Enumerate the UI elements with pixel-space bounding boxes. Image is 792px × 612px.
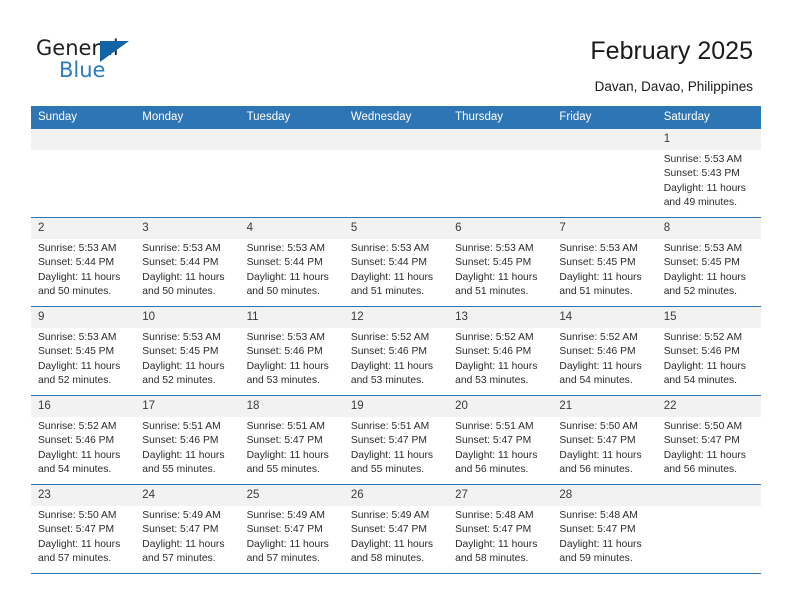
daylight-text: Daylight: 11 hours and 53 minutes. — [455, 360, 546, 389]
calendar-day-number — [31, 129, 135, 150]
calendar-day-cell[interactable]: 7Sunrise: 5:53 AMSunset: 5:45 PMDaylight… — [552, 218, 656, 307]
calendar-day-number: 20 — [448, 396, 552, 417]
calendar-day-number — [344, 129, 448, 150]
day-sun-details: Sunrise: 5:53 AMSunset: 5:43 PMDaylight:… — [657, 150, 761, 210]
sunrise-text: Sunrise: 5:48 AM — [559, 509, 650, 523]
page-header: General Blue February 2025 Davan, Davao,… — [0, 0, 792, 103]
calendar-day-number — [552, 129, 656, 150]
calendar-day-number: 18 — [240, 396, 344, 417]
sunrise-text: Sunrise: 5:49 AM — [351, 509, 442, 523]
weekday-header-sunday: Sunday — [31, 106, 135, 129]
logo-text-blue: Blue — [59, 58, 105, 82]
sunset-text: Sunset: 5:47 PM — [559, 434, 650, 448]
calendar-day-number: 1 — [657, 129, 761, 150]
day-sun-details: Sunrise: 5:53 AMSunset: 5:45 PMDaylight:… — [657, 239, 761, 299]
sunset-text: Sunset: 5:47 PM — [455, 434, 546, 448]
calendar-day-cell[interactable]: 24Sunrise: 5:49 AMSunset: 5:47 PMDayligh… — [135, 485, 239, 574]
daylight-text: Daylight: 11 hours and 53 minutes. — [351, 360, 442, 389]
calendar-body: 1Sunrise: 5:53 AMSunset: 5:43 PMDaylight… — [31, 129, 761, 574]
calendar-day-number: 27 — [448, 485, 552, 506]
day-sun-details: Sunrise: 5:50 AMSunset: 5:47 PMDaylight:… — [31, 506, 135, 566]
sunrise-text: Sunrise: 5:51 AM — [455, 420, 546, 434]
sunset-text: Sunset: 5:45 PM — [142, 345, 233, 359]
daylight-text: Daylight: 11 hours and 51 minutes. — [455, 271, 546, 300]
sunrise-text: Sunrise: 5:53 AM — [142, 331, 233, 345]
daylight-text: Daylight: 11 hours and 49 minutes. — [664, 182, 755, 211]
sunrise-text: Sunrise: 5:53 AM — [247, 242, 338, 256]
calendar-day-number: 3 — [135, 218, 239, 239]
sunset-text: Sunset: 5:45 PM — [559, 256, 650, 270]
daylight-text: Daylight: 11 hours and 56 minutes. — [559, 449, 650, 478]
calendar-day-number: 17 — [135, 396, 239, 417]
day-sun-details: Sunrise: 5:53 AMSunset: 5:44 PMDaylight:… — [240, 239, 344, 299]
calendar-day-cell[interactable]: 8Sunrise: 5:53 AMSunset: 5:45 PMDaylight… — [657, 218, 761, 307]
sunset-text: Sunset: 5:45 PM — [38, 345, 129, 359]
daylight-text: Daylight: 11 hours and 57 minutes. — [142, 538, 233, 567]
sunrise-text: Sunrise: 5:53 AM — [38, 331, 129, 345]
calendar-day-cell-empty[interactable] — [31, 129, 135, 218]
calendar-day-number: 26 — [344, 485, 448, 506]
calendar-day-number: 11 — [240, 307, 344, 328]
calendar-day-cell[interactable]: 15Sunrise: 5:52 AMSunset: 5:46 PMDayligh… — [657, 307, 761, 396]
sunrise-text: Sunrise: 5:53 AM — [38, 242, 129, 256]
calendar-day-cell-empty[interactable] — [344, 129, 448, 218]
day-sun-details: Sunrise: 5:48 AMSunset: 5:47 PMDaylight:… — [552, 506, 656, 566]
sunrise-text: Sunrise: 5:53 AM — [351, 242, 442, 256]
calendar-day-number: 8 — [657, 218, 761, 239]
sunset-text: Sunset: 5:46 PM — [142, 434, 233, 448]
weekday-header-tuesday: Tuesday — [240, 106, 344, 129]
sunrise-text: Sunrise: 5:53 AM — [142, 242, 233, 256]
sunset-text: Sunset: 5:46 PM — [664, 345, 755, 359]
daylight-text: Daylight: 11 hours and 54 minutes. — [664, 360, 755, 389]
day-sun-details: Sunrise: 5:53 AMSunset: 5:44 PMDaylight:… — [31, 239, 135, 299]
sunrise-text: Sunrise: 5:53 AM — [559, 242, 650, 256]
weekday-header-monday: Monday — [135, 106, 239, 129]
calendar-day-number: 9 — [31, 307, 135, 328]
daylight-text: Daylight: 11 hours and 56 minutes. — [455, 449, 546, 478]
calendar-week-row: 16Sunrise: 5:52 AMSunset: 5:46 PMDayligh… — [31, 396, 761, 485]
sunrise-text: Sunrise: 5:50 AM — [559, 420, 650, 434]
daylight-text: Daylight: 11 hours and 54 minutes. — [38, 449, 129, 478]
day-sun-details: Sunrise: 5:52 AMSunset: 5:46 PMDaylight:… — [344, 328, 448, 388]
daylight-text: Daylight: 11 hours and 59 minutes. — [559, 538, 650, 567]
day-sun-details: Sunrise: 5:52 AMSunset: 5:46 PMDaylight:… — [31, 417, 135, 477]
daylight-text: Daylight: 11 hours and 55 minutes. — [351, 449, 442, 478]
calendar-day-number: 25 — [240, 485, 344, 506]
sunrise-text: Sunrise: 5:52 AM — [664, 331, 755, 345]
day-sun-details: Sunrise: 5:53 AMSunset: 5:45 PMDaylight:… — [31, 328, 135, 388]
daylight-text: Daylight: 11 hours and 57 minutes. — [38, 538, 129, 567]
sunset-text: Sunset: 5:47 PM — [247, 523, 338, 537]
day-sun-details: Sunrise: 5:51 AMSunset: 5:47 PMDaylight:… — [448, 417, 552, 477]
day-sun-details: Sunrise: 5:50 AMSunset: 5:47 PMDaylight:… — [657, 417, 761, 477]
calendar-day-number: 7 — [552, 218, 656, 239]
daylight-text: Daylight: 11 hours and 57 minutes. — [247, 538, 338, 567]
calendar-day-number — [448, 129, 552, 150]
calendar-day-cell[interactable]: 10Sunrise: 5:53 AMSunset: 5:45 PMDayligh… — [135, 307, 239, 396]
daylight-text: Daylight: 11 hours and 50 minutes. — [38, 271, 129, 300]
sunset-text: Sunset: 5:44 PM — [351, 256, 442, 270]
calendar-day-number: 16 — [31, 396, 135, 417]
calendar-day-number: 19 — [344, 396, 448, 417]
sunrise-text: Sunrise: 5:50 AM — [38, 509, 129, 523]
calendar-day-number: 21 — [552, 396, 656, 417]
daylight-text: Daylight: 11 hours and 58 minutes. — [351, 538, 442, 567]
calendar-day-number: 6 — [448, 218, 552, 239]
daylight-text: Daylight: 11 hours and 56 minutes. — [664, 449, 755, 478]
calendar-day-number: 15 — [657, 307, 761, 328]
day-sun-details: Sunrise: 5:52 AMSunset: 5:46 PMDaylight:… — [657, 328, 761, 388]
calendar-day-number: 23 — [31, 485, 135, 506]
calendar-day-cell[interactable]: 3Sunrise: 5:53 AMSunset: 5:44 PMDaylight… — [135, 218, 239, 307]
sunset-text: Sunset: 5:47 PM — [142, 523, 233, 537]
calendar-day-cell[interactable]: 9Sunrise: 5:53 AMSunset: 5:45 PMDaylight… — [31, 307, 135, 396]
sunset-text: Sunset: 5:43 PM — [664, 167, 755, 181]
weekday-header-wednesday: Wednesday — [344, 106, 448, 129]
day-sun-details: Sunrise: 5:51 AMSunset: 5:47 PMDaylight:… — [344, 417, 448, 477]
day-sun-details: Sunrise: 5:50 AMSunset: 5:47 PMDaylight:… — [552, 417, 656, 477]
sunset-text: Sunset: 5:47 PM — [455, 523, 546, 537]
sunrise-text: Sunrise: 5:52 AM — [38, 420, 129, 434]
calendar-day-number: 5 — [344, 218, 448, 239]
sunrise-text: Sunrise: 5:52 AM — [559, 331, 650, 345]
calendar-week-row: 1Sunrise: 5:53 AMSunset: 5:43 PMDaylight… — [31, 129, 761, 218]
calendar-day-number: 4 — [240, 218, 344, 239]
calendar-day-cell[interactable]: 26Sunrise: 5:49 AMSunset: 5:47 PMDayligh… — [344, 485, 448, 574]
day-sun-details: Sunrise: 5:48 AMSunset: 5:47 PMDaylight:… — [448, 506, 552, 566]
calendar-day-number: 2 — [31, 218, 135, 239]
calendar-day-number: 10 — [135, 307, 239, 328]
day-sun-details: Sunrise: 5:49 AMSunset: 5:47 PMDaylight:… — [135, 506, 239, 566]
sunset-text: Sunset: 5:47 PM — [38, 523, 129, 537]
sunset-text: Sunset: 5:47 PM — [351, 523, 442, 537]
calendar-day-cell[interactable]: 23Sunrise: 5:50 AMSunset: 5:47 PMDayligh… — [31, 485, 135, 574]
calendar-day-cell[interactable]: 6Sunrise: 5:53 AMSunset: 5:45 PMDaylight… — [448, 218, 552, 307]
calendar-day-cell-empty[interactable] — [552, 129, 656, 218]
calendar-day-cell[interactable]: 13Sunrise: 5:52 AMSunset: 5:46 PMDayligh… — [448, 307, 552, 396]
calendar-day-cell[interactable]: 20Sunrise: 5:51 AMSunset: 5:47 PMDayligh… — [448, 396, 552, 485]
sunset-text: Sunset: 5:44 PM — [38, 256, 129, 270]
calendar-day-cell[interactable]: 25Sunrise: 5:49 AMSunset: 5:47 PMDayligh… — [240, 485, 344, 574]
calendar-day-number: 28 — [552, 485, 656, 506]
day-sun-details: Sunrise: 5:53 AMSunset: 5:46 PMDaylight:… — [240, 328, 344, 388]
day-sun-details: Sunrise: 5:51 AMSunset: 5:47 PMDaylight:… — [240, 417, 344, 477]
calendar-day-number: 24 — [135, 485, 239, 506]
calendar-day-number: 22 — [657, 396, 761, 417]
daylight-text: Daylight: 11 hours and 53 minutes. — [247, 360, 338, 389]
sunset-text: Sunset: 5:45 PM — [455, 256, 546, 270]
sunset-text: Sunset: 5:47 PM — [664, 434, 755, 448]
calendar-day-number — [135, 129, 239, 150]
calendar-day-cell[interactable]: 27Sunrise: 5:48 AMSunset: 5:47 PMDayligh… — [448, 485, 552, 574]
calendar-day-cell-empty[interactable] — [240, 129, 344, 218]
calendar-page: General Blue February 2025 Davan, Davao,… — [0, 0, 792, 612]
calendar-week-row: 2Sunrise: 5:53 AMSunset: 5:44 PMDaylight… — [31, 218, 761, 307]
calendar-day-cell[interactable]: 21Sunrise: 5:50 AMSunset: 5:47 PMDayligh… — [552, 396, 656, 485]
daylight-text: Daylight: 11 hours and 52 minutes. — [664, 271, 755, 300]
calendar-day-cell[interactable]: 28Sunrise: 5:48 AMSunset: 5:47 PMDayligh… — [552, 485, 656, 574]
daylight-text: Daylight: 11 hours and 55 minutes. — [247, 449, 338, 478]
daylight-text: Daylight: 11 hours and 55 minutes. — [142, 449, 233, 478]
sunrise-sunset-calendar-table: Sunday Monday Tuesday Wednesday Thursday… — [31, 106, 761, 574]
sunset-text: Sunset: 5:46 PM — [455, 345, 546, 359]
calendar-day-number: 14 — [552, 307, 656, 328]
sunrise-text: Sunrise: 5:52 AM — [351, 331, 442, 345]
calendar-day-number — [657, 485, 761, 506]
calendar-day-cell[interactable]: 16Sunrise: 5:52 AMSunset: 5:46 PMDayligh… — [31, 396, 135, 485]
sunset-text: Sunset: 5:47 PM — [247, 434, 338, 448]
general-blue-logo[interactable]: General Blue — [36, 36, 156, 86]
day-sun-details: Sunrise: 5:51 AMSunset: 5:46 PMDaylight:… — [135, 417, 239, 477]
sunrise-text: Sunrise: 5:50 AM — [664, 420, 755, 434]
calendar-day-cell[interactable]: 18Sunrise: 5:51 AMSunset: 5:47 PMDayligh… — [240, 396, 344, 485]
day-sun-details: Sunrise: 5:49 AMSunset: 5:47 PMDaylight:… — [240, 506, 344, 566]
sunrise-text: Sunrise: 5:49 AM — [247, 509, 338, 523]
sunrise-text: Sunrise: 5:51 AM — [142, 420, 233, 434]
sunrise-text: Sunrise: 5:53 AM — [455, 242, 546, 256]
page-title: February 2025 — [590, 37, 753, 66]
calendar-day-cell[interactable]: 22Sunrise: 5:50 AMSunset: 5:47 PMDayligh… — [657, 396, 761, 485]
day-sun-details: Sunrise: 5:53 AMSunset: 5:45 PMDaylight:… — [448, 239, 552, 299]
sunset-text: Sunset: 5:44 PM — [247, 256, 338, 270]
calendar-day-cell[interactable]: 17Sunrise: 5:51 AMSunset: 5:46 PMDayligh… — [135, 396, 239, 485]
sunrise-text: Sunrise: 5:53 AM — [247, 331, 338, 345]
daylight-text: Daylight: 11 hours and 51 minutes. — [559, 271, 650, 300]
calendar-day-number: 12 — [344, 307, 448, 328]
sunrise-text: Sunrise: 5:51 AM — [247, 420, 338, 434]
weekday-header-saturday: Saturday — [657, 106, 761, 129]
daylight-text: Daylight: 11 hours and 54 minutes. — [559, 360, 650, 389]
day-sun-details: Sunrise: 5:49 AMSunset: 5:47 PMDaylight:… — [344, 506, 448, 566]
calendar-day-cell[interactable]: 1Sunrise: 5:53 AMSunset: 5:43 PMDaylight… — [657, 129, 761, 218]
sunrise-text: Sunrise: 5:53 AM — [664, 242, 755, 256]
calendar-week-row: 9Sunrise: 5:53 AMSunset: 5:45 PMDaylight… — [31, 307, 761, 396]
calendar-day-cell-empty[interactable] — [657, 485, 761, 574]
sunset-text: Sunset: 5:45 PM — [664, 256, 755, 270]
sunrise-text: Sunrise: 5:49 AM — [142, 509, 233, 523]
calendar-day-cell[interactable]: 4Sunrise: 5:53 AMSunset: 5:44 PMDaylight… — [240, 218, 344, 307]
daylight-text: Daylight: 11 hours and 52 minutes. — [142, 360, 233, 389]
day-sun-details: Sunrise: 5:53 AMSunset: 5:44 PMDaylight:… — [135, 239, 239, 299]
page-subtitle-location: Davan, Davao, Philippines — [595, 79, 753, 94]
sunset-text: Sunset: 5:44 PM — [142, 256, 233, 270]
sunset-text: Sunset: 5:46 PM — [559, 345, 650, 359]
weekday-header-thursday: Thursday — [448, 106, 552, 129]
weekday-header-friday: Friday — [552, 106, 656, 129]
day-sun-details: Sunrise: 5:53 AMSunset: 5:45 PMDaylight:… — [135, 328, 239, 388]
weekday-header-row: Sunday Monday Tuesday Wednesday Thursday… — [31, 106, 761, 129]
calendar-week-row: 23Sunrise: 5:50 AMSunset: 5:47 PMDayligh… — [31, 485, 761, 574]
sunrise-text: Sunrise: 5:51 AM — [351, 420, 442, 434]
calendar-day-cell[interactable]: 12Sunrise: 5:52 AMSunset: 5:46 PMDayligh… — [344, 307, 448, 396]
sunset-text: Sunset: 5:46 PM — [38, 434, 129, 448]
calendar-day-cell[interactable]: 5Sunrise: 5:53 AMSunset: 5:44 PMDaylight… — [344, 218, 448, 307]
day-sun-details: Sunrise: 5:53 AMSunset: 5:45 PMDaylight:… — [552, 239, 656, 299]
calendar-day-cell[interactable]: 19Sunrise: 5:51 AMSunset: 5:47 PMDayligh… — [344, 396, 448, 485]
daylight-text: Daylight: 11 hours and 50 minutes. — [247, 271, 338, 300]
sunset-text: Sunset: 5:46 PM — [351, 345, 442, 359]
calendar-day-cell-empty[interactable] — [448, 129, 552, 218]
sunset-text: Sunset: 5:47 PM — [351, 434, 442, 448]
sunrise-text: Sunrise: 5:48 AM — [455, 509, 546, 523]
calendar-day-cell[interactable]: 11Sunrise: 5:53 AMSunset: 5:46 PMDayligh… — [240, 307, 344, 396]
calendar-day-cell-empty[interactable] — [135, 129, 239, 218]
calendar-header-row-group: Sunday Monday Tuesday Wednesday Thursday… — [31, 106, 761, 129]
day-sun-details: Sunrise: 5:53 AMSunset: 5:44 PMDaylight:… — [344, 239, 448, 299]
calendar-day-cell[interactable]: 2Sunrise: 5:53 AMSunset: 5:44 PMDaylight… — [31, 218, 135, 307]
daylight-text: Daylight: 11 hours and 50 minutes. — [142, 271, 233, 300]
calendar-day-cell[interactable]: 14Sunrise: 5:52 AMSunset: 5:46 PMDayligh… — [552, 307, 656, 396]
daylight-text: Daylight: 11 hours and 51 minutes. — [351, 271, 442, 300]
sunset-text: Sunset: 5:46 PM — [247, 345, 338, 359]
calendar-day-number: 13 — [448, 307, 552, 328]
day-sun-details: Sunrise: 5:52 AMSunset: 5:46 PMDaylight:… — [448, 328, 552, 388]
sunrise-text: Sunrise: 5:53 AM — [664, 153, 755, 167]
calendar-day-number — [240, 129, 344, 150]
day-sun-details: Sunrise: 5:52 AMSunset: 5:46 PMDaylight:… — [552, 328, 656, 388]
sunset-text: Sunset: 5:47 PM — [559, 523, 650, 537]
daylight-text: Daylight: 11 hours and 52 minutes. — [38, 360, 129, 389]
sunrise-text: Sunrise: 5:52 AM — [455, 331, 546, 345]
daylight-text: Daylight: 11 hours and 58 minutes. — [455, 538, 546, 567]
